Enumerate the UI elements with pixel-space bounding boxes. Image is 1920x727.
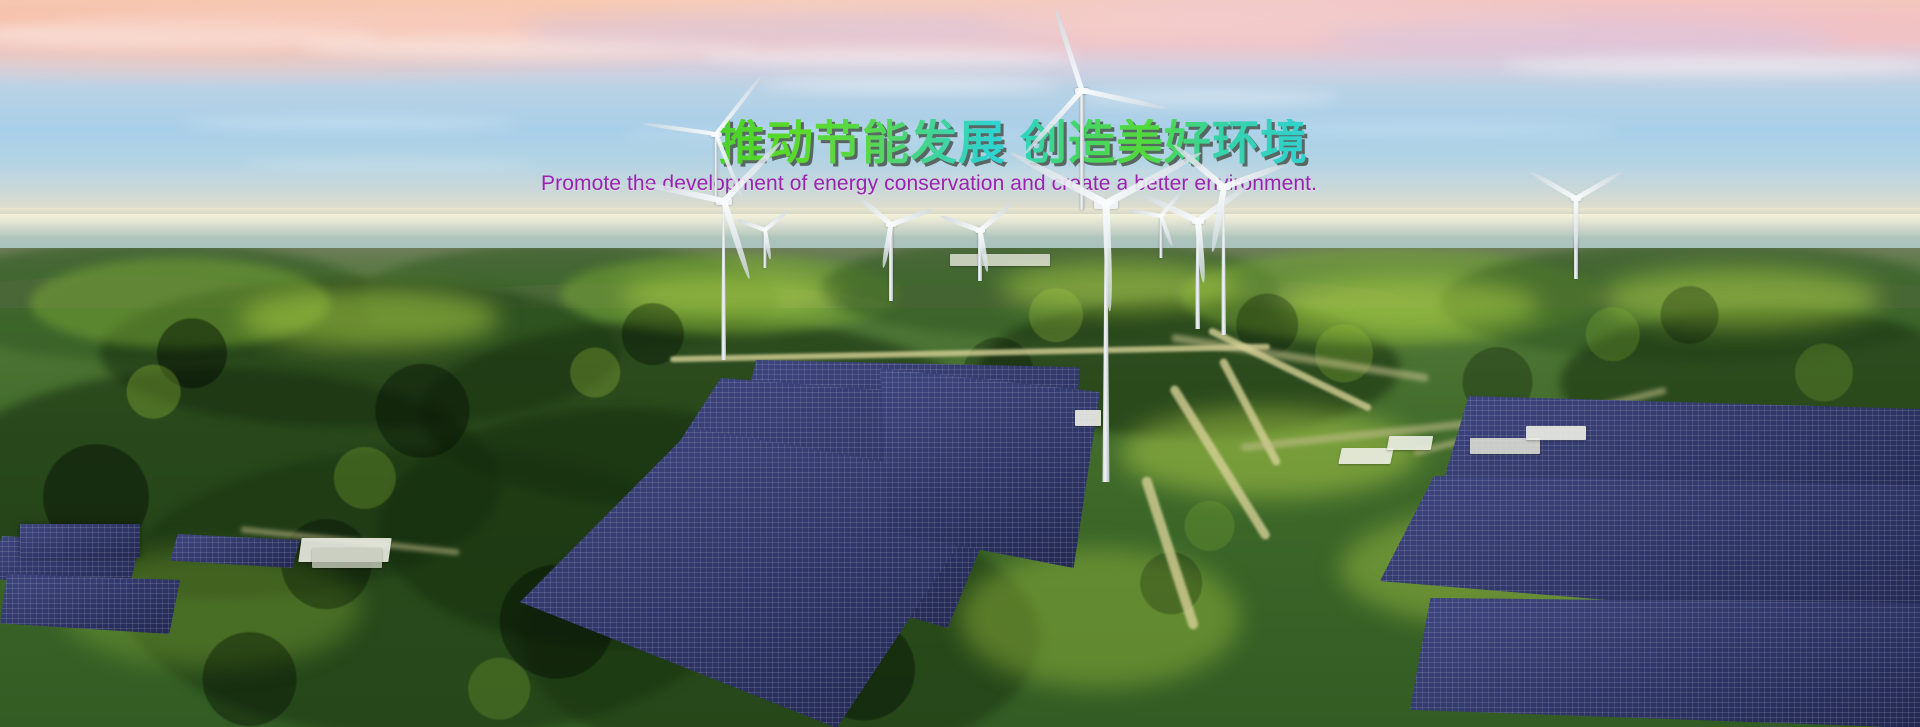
- wind-turbine: [1574, 196, 1577, 278]
- wind-turbine: [1222, 184, 1225, 334]
- wind-turbine: [1160, 214, 1162, 258]
- site-building: [1526, 426, 1586, 440]
- cloud-wisp: [180, 118, 520, 130]
- wind-turbine: [1196, 218, 1199, 328]
- solar-panel-array: [1410, 598, 1920, 727]
- wind-turbine: [978, 228, 981, 280]
- cloud-wisp: [60, 6, 580, 40]
- site-building: [1470, 438, 1540, 454]
- site-building: [1075, 410, 1101, 426]
- site-building: [1338, 448, 1393, 464]
- hero-banner: 推动节能发展 创造美好环境 推动节能发展 创造美好环境 Promote the …: [0, 0, 1920, 727]
- wind-turbine: [764, 228, 766, 268]
- cloud-wisp: [240, 160, 540, 169]
- wind-turbine: [722, 198, 725, 358]
- cloud-wisp: [1500, 56, 1920, 76]
- wind-turbine: [714, 132, 717, 202]
- turbine-blade: [1573, 199, 1578, 251]
- landscape: [0, 248, 1920, 727]
- wind-turbine: [889, 222, 892, 300]
- solar-panel-array: [20, 524, 140, 558]
- turbine-mast: [714, 135, 717, 203]
- site-building: [950, 254, 1050, 266]
- cloud-wisp: [760, 78, 1060, 92]
- site-building: [1387, 436, 1433, 450]
- banner-headline: 推动节能发展 创造美好环境: [718, 119, 1308, 166]
- cloud-wisp: [700, 48, 1080, 66]
- site-building: [312, 548, 382, 568]
- wind-turbine: [1104, 200, 1108, 480]
